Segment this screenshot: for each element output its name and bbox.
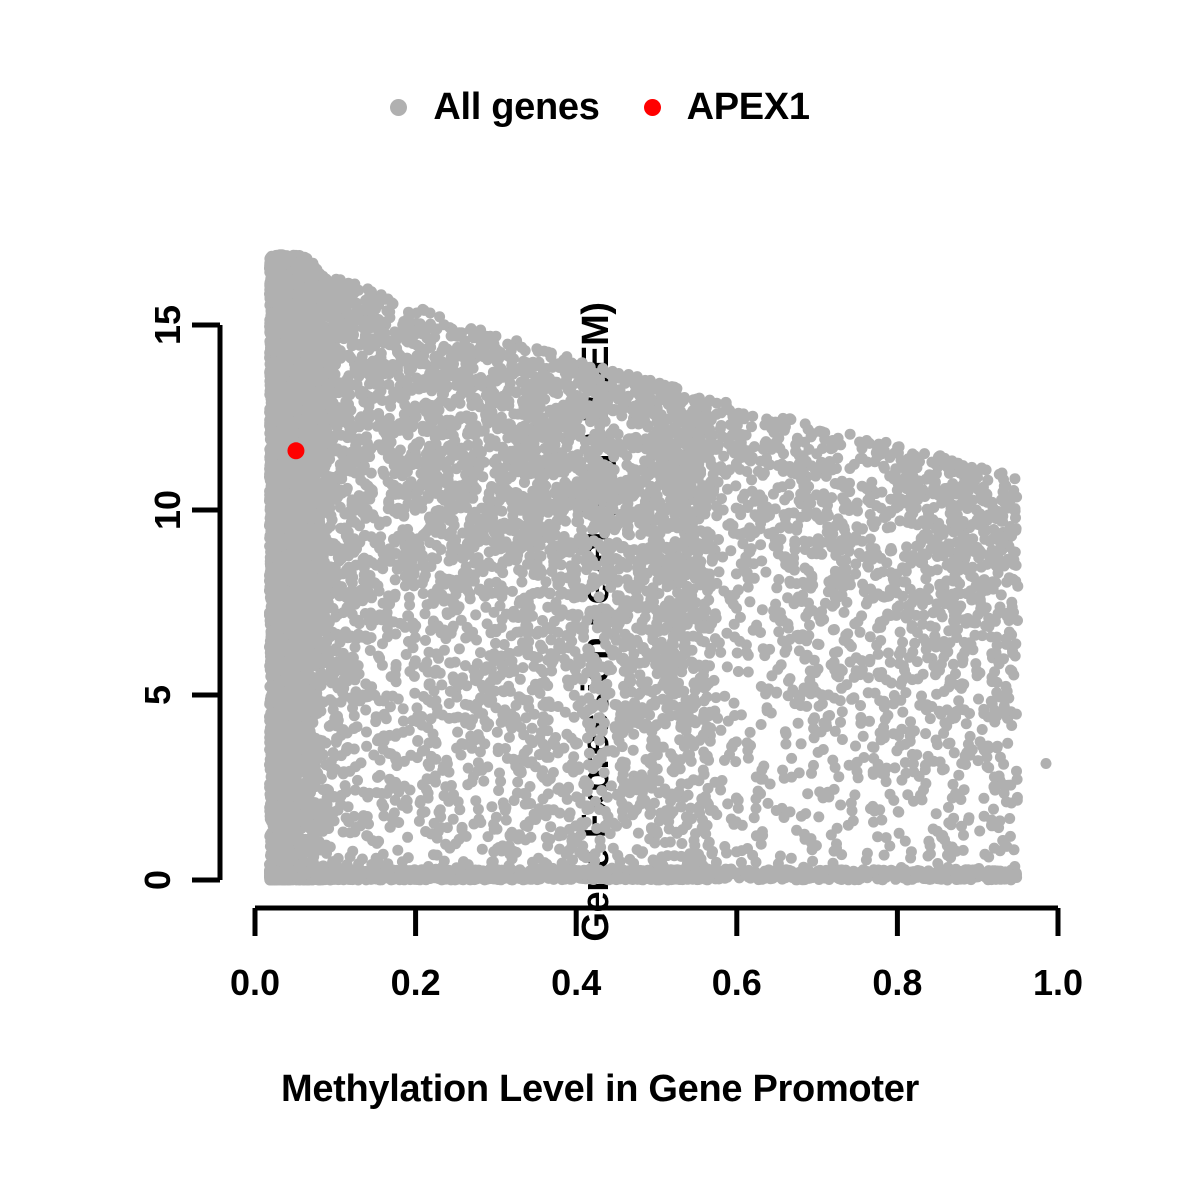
x-tick-label: 0.8 [872, 962, 922, 1004]
y-tick-label: 10 [147, 490, 189, 530]
x-tick-label: 1.0 [1033, 962, 1083, 1004]
x-tick-label: 0.2 [391, 962, 441, 1004]
data-points-layer [264, 249, 1052, 885]
x-tick-label: 0.6 [712, 962, 762, 1004]
y-tick-label: 5 [137, 685, 179, 705]
y-tick-label: 0 [137, 870, 179, 890]
x-tick-label: 0.0 [230, 962, 280, 1004]
scatter-plot-figure: All genes APEX1 Gene Expression Level (l… [0, 0, 1200, 1200]
x-axis-title: Methylation Level in Gene Promoter [0, 1068, 1200, 1111]
y-tick-label: 15 [147, 305, 189, 345]
apex1-highlight-layer [287, 442, 304, 459]
plot-canvas [0, 0, 1200, 1200]
apex1-data-point [287, 442, 304, 459]
x-tick-label: 0.4 [551, 962, 601, 1004]
